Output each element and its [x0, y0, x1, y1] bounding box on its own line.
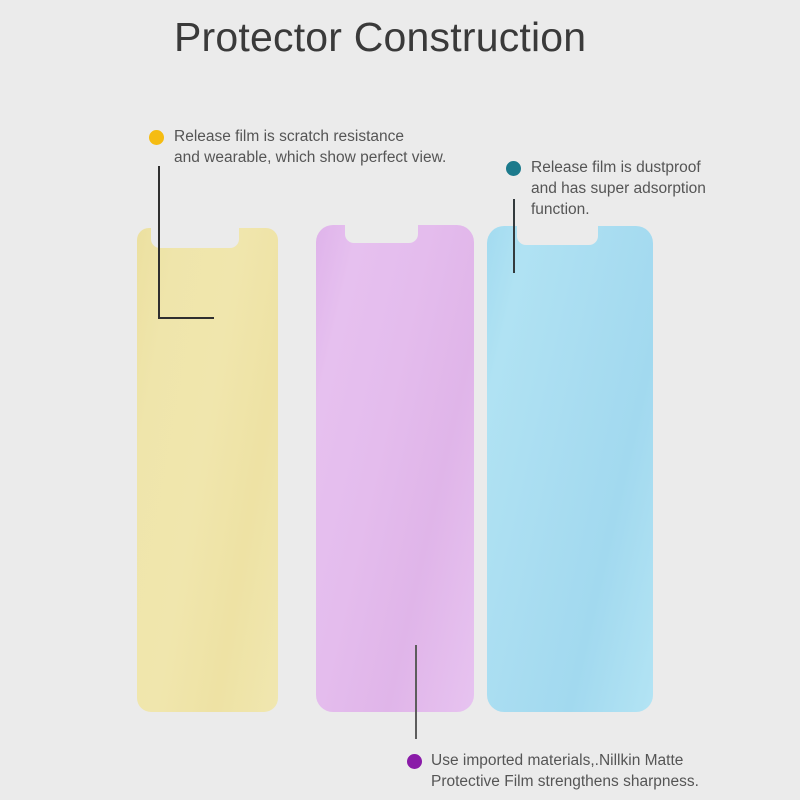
- film-notch-blue: [517, 225, 598, 245]
- annotation-purple-text: Use imported materials,.Nillkin Matte Pr…: [431, 750, 699, 792]
- bullet-dot-purple-icon: [407, 754, 422, 769]
- leader-line-purple-vertical: [415, 645, 417, 739]
- film-notch-yellow: [151, 227, 239, 248]
- annotation-yellow-text: Release film is scratch resistance and w…: [174, 126, 446, 168]
- annotation-yellow: Release film is scratch resistance and w…: [149, 126, 446, 168]
- bullet-dot-yellow-icon: [149, 130, 164, 145]
- annotation-purple: Use imported materials,.Nillkin Matte Pr…: [407, 750, 699, 792]
- annotation-blue: Release film is dustproof and has super …: [506, 157, 706, 220]
- page-title: Protector Construction: [174, 14, 586, 61]
- annotation-blue-text: Release film is dustproof and has super …: [531, 157, 706, 220]
- film-notch-purple: [345, 224, 418, 243]
- leader-line-yellow-horizontal: [158, 317, 214, 319]
- bullet-dot-teal-icon: [506, 161, 521, 176]
- leader-line-yellow-vertical: [158, 166, 160, 319]
- film-layer-blue: [487, 226, 653, 712]
- protector-construction-infographic: Protector Construction Release film is s…: [0, 0, 800, 800]
- film-layer-purple: [316, 225, 474, 712]
